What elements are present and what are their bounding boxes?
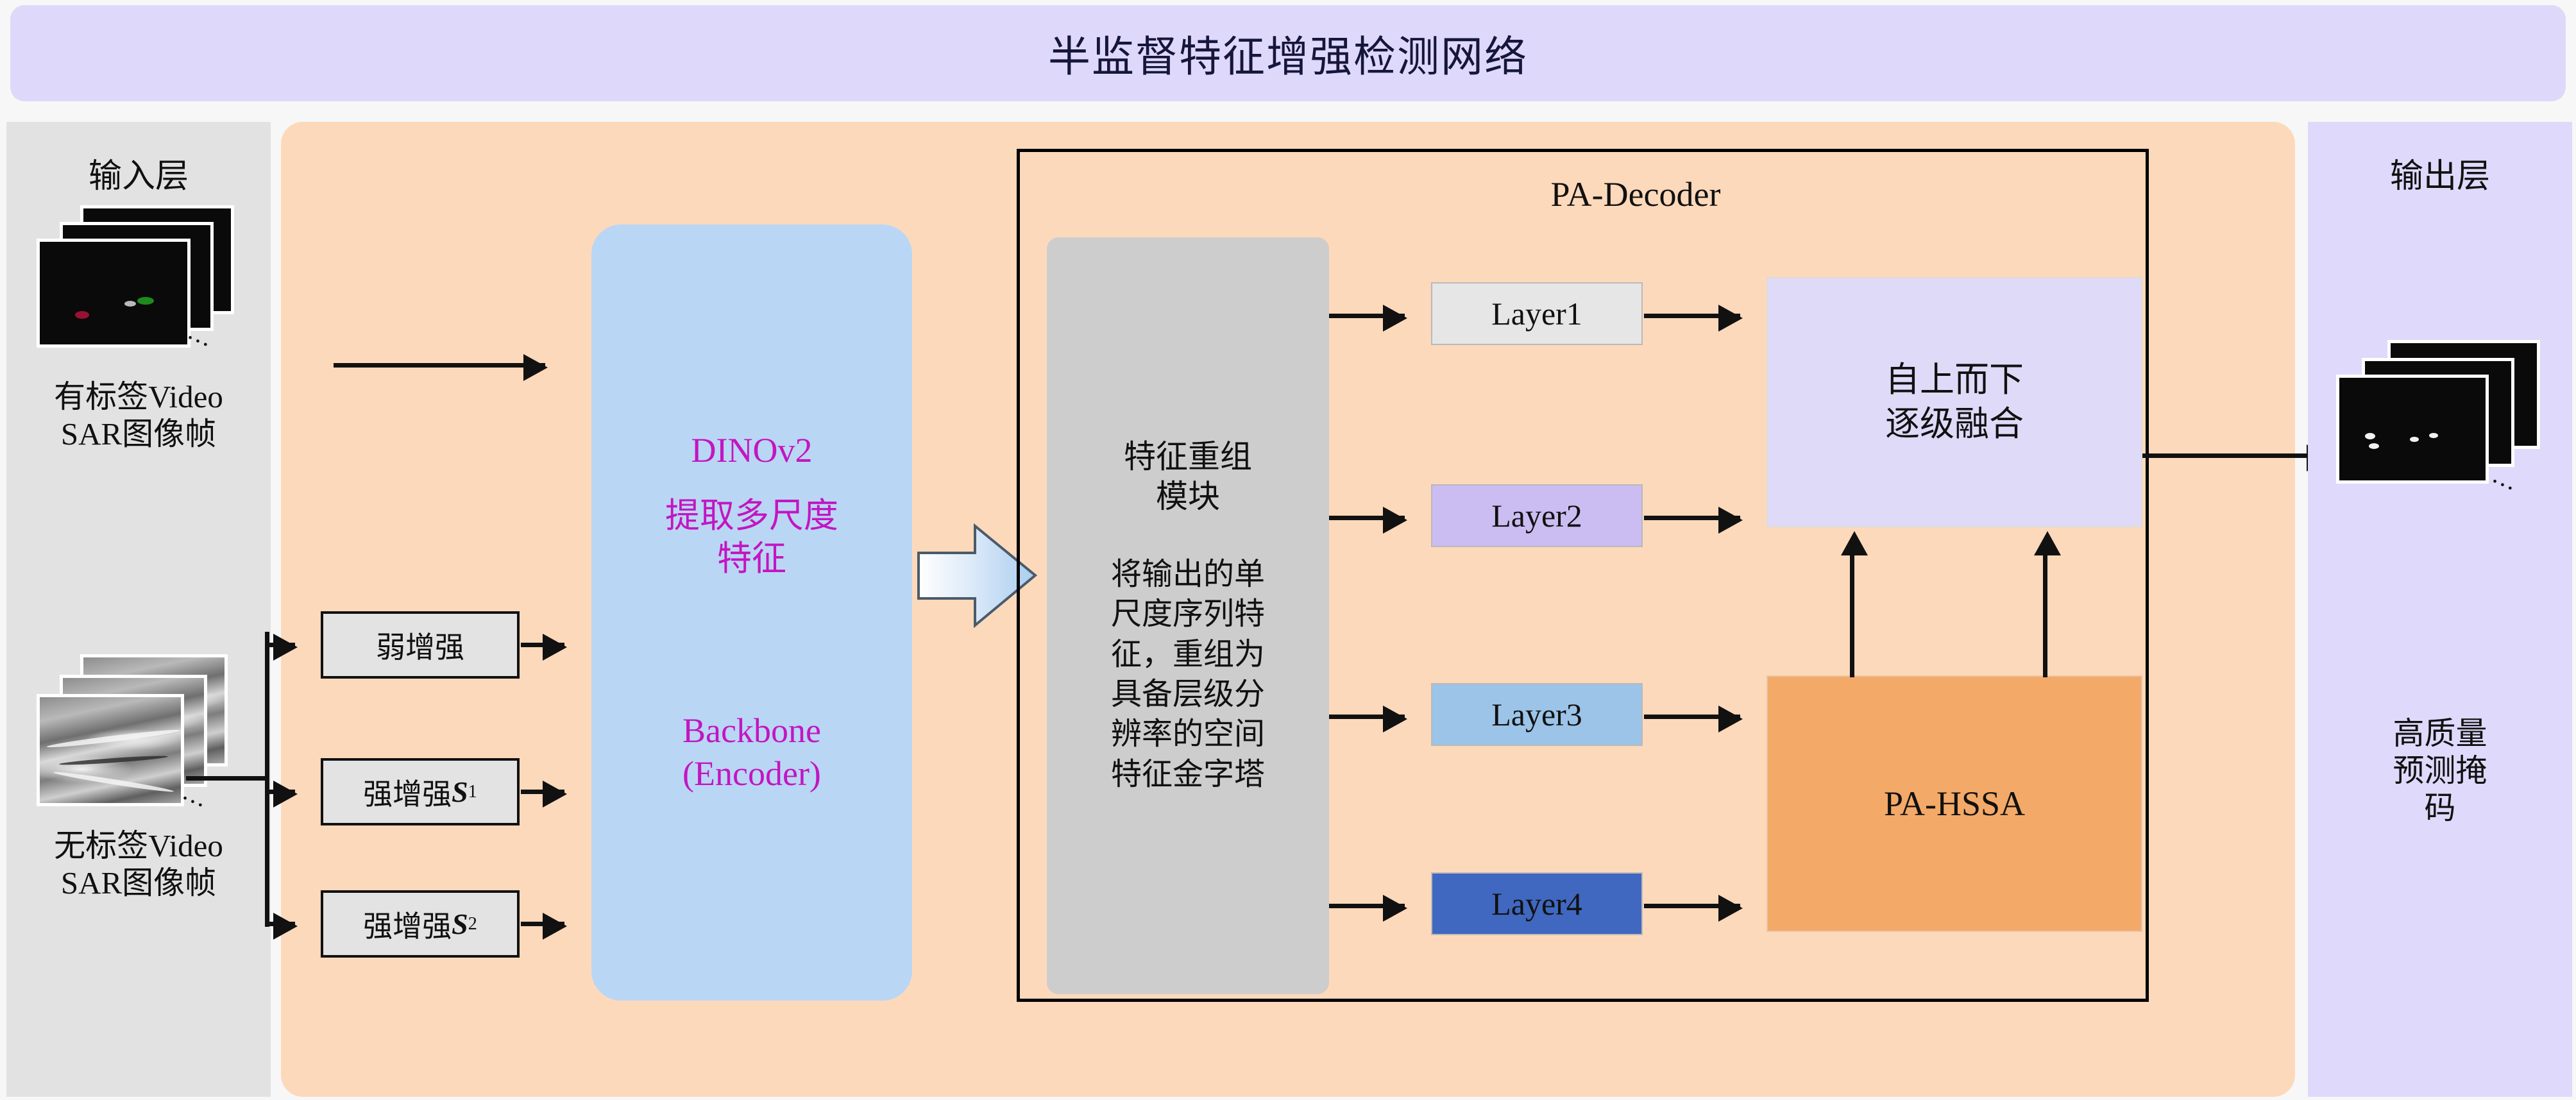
sar-streak-3 [53, 770, 174, 794]
branch-stem [186, 776, 269, 781]
output-layer-title: 输出层 [2308, 149, 2572, 197]
arrow-layer3-to-hssa [1644, 715, 1740, 719]
page-title: 半监督特征增强检测网络 [1048, 22, 1528, 84]
backbone-name: DINOv2 [691, 429, 813, 473]
sar-gray-frame-front [37, 694, 184, 806]
unlabeled-frames-caption: 无标签Video SAR图像帧 [6, 827, 271, 902]
input-layer-title: 输入层 [6, 149, 271, 197]
strong-augmentation-s2-box[interactable]: 强增强 S2 [321, 890, 520, 958]
arrow-strong-aug-s1-to-backbone [521, 790, 564, 794]
feature-reorganization-module[interactable]: 特征重组 模块 将输出的单 尺度序列特 征，重组为 具备层级分 辨率的空间 特征… [1047, 237, 1329, 994]
sar-streak-1 [46, 727, 181, 750]
predicted-mask-stack: ... [2335, 340, 2546, 507]
layer2-box[interactable]: Layer2 [1431, 484, 1643, 547]
target-blob-green [137, 297, 154, 305]
arrow-into-strong-aug-s1 [269, 790, 295, 794]
arrow-layer2-to-fusion [1644, 516, 1740, 520]
pa-hssa-box[interactable]: PA-HSSA [1767, 675, 2142, 932]
arrow-weak-aug-to-backbone [521, 643, 564, 647]
layer4-label: Layer4 [1491, 885, 1582, 922]
branch-spine [265, 632, 269, 927]
output-layer-caption: 高质量 预测掩 码 [2308, 715, 2572, 826]
target-blob-gray [124, 301, 136, 307]
strong-augmentation-s1-symbol: S [452, 775, 468, 809]
strong-augmentation-s1-sup: 1 [468, 782, 477, 802]
layer2-label: Layer2 [1491, 497, 1582, 534]
labeled-frames-caption: 有标签Video SAR图像帧 [6, 378, 271, 453]
layer4-box[interactable]: Layer4 [1431, 872, 1643, 935]
diagram-canvas: 半监督特征增强检测网络 输入层 ... 有标签Video SAR图像帧 ... … [0, 0, 2576, 1100]
mask-frame-front [2336, 375, 2489, 484]
arrow-hssa-to-fusion-right [2043, 555, 2047, 677]
strong-augmentation-s2-symbol: S [452, 907, 468, 941]
weak-augmentation-box[interactable]: 弱增强 [321, 611, 520, 679]
arrow-strong-aug-s2-to-backbone [521, 922, 564, 926]
arrow-reorg-to-layer4 [1329, 904, 1405, 908]
arrow-reorg-to-layer1 [1329, 314, 1405, 318]
arrow-labeled-to-backbone [334, 363, 545, 368]
target-blob-red [75, 311, 89, 319]
layer3-box[interactable]: Layer3 [1431, 683, 1643, 746]
arrow-layer4-to-hssa [1644, 904, 1740, 908]
arrow-hssa-to-fusion-left [1850, 555, 1854, 677]
reorg-module-description: 将输出的单 尺度序列特 征，重组为 具备层级分 辨率的空间 特征金字塔 [1111, 555, 1265, 795]
backbone-box[interactable]: DINOv2 提取多尺度 特征 Backbone (Encoder) [591, 224, 912, 1001]
backbone-role: Backbone (Encoder) [682, 709, 821, 796]
pa-decoder-label: PA-Decoder [1411, 174, 1860, 214]
mask-blob-1 [2365, 433, 2375, 439]
unlabeled-sar-frame-stack: ... [35, 654, 241, 815]
weak-augmentation-label: 弱增强 [376, 624, 464, 666]
strong-augmentation-s2-label: 强增强 [363, 903, 452, 945]
arrow-fusion-to-output [2142, 453, 2328, 458]
labeled-sar-frame-stack: ... [35, 205, 241, 359]
backbone-subtitle: 提取多尺度 特征 [665, 495, 838, 581]
arrow-reorg-to-layer3 [1329, 715, 1405, 719]
strong-augmentation-s1-label: 强增强 [363, 771, 452, 813]
top-down-fusion-box[interactable]: 自上而下 逐级融合 [1767, 277, 2142, 527]
mask-blob-2 [2369, 443, 2379, 449]
strong-augmentation-s2-sup: 2 [468, 914, 477, 935]
pa-hssa-label: PA-HSSA [1884, 784, 2025, 824]
strong-augmentation-s1-box[interactable]: 强增强 S1 [321, 758, 520, 825]
arrow-layer1-to-fusion [1644, 314, 1740, 318]
output-layer-panel [2308, 122, 2572, 1097]
arrow-reorg-to-layer2 [1329, 516, 1405, 520]
mask-blob-3 [2410, 437, 2419, 442]
top-down-fusion-label: 自上而下 逐级融合 [1885, 358, 2024, 446]
sar-frame-front [37, 239, 191, 348]
arrow-into-strong-aug-s2 [269, 922, 295, 926]
diagram-title-banner: 半监督特征增强检测网络 [10, 5, 2566, 101]
layer1-box[interactable]: Layer1 [1431, 282, 1643, 345]
layer3-label: Layer3 [1491, 696, 1582, 733]
reorg-module-title: 特征重组 模块 [1124, 437, 1252, 516]
arrow-into-weak-aug [269, 643, 295, 647]
layer1-label: Layer1 [1491, 295, 1582, 332]
mask-blob-4 [2429, 433, 2438, 438]
sar-streak-2 [59, 754, 168, 766]
